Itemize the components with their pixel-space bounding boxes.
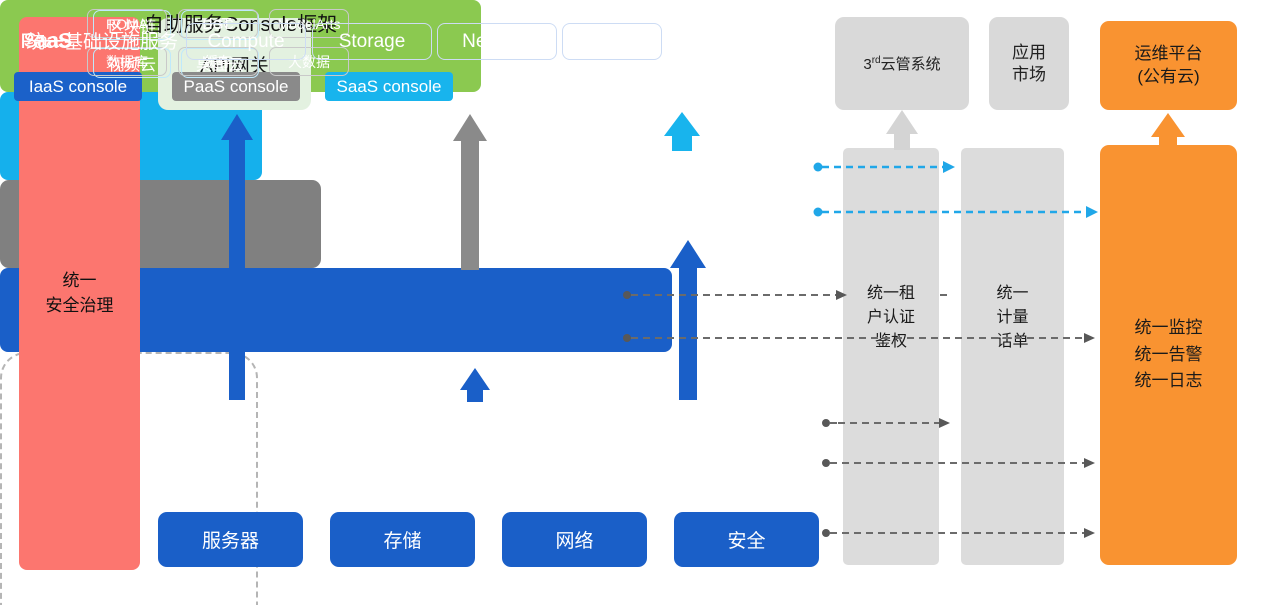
auth-line3: 鉴权 — [843, 330, 939, 354]
third-party-cloud-label: 3rd云管系统 — [863, 53, 940, 74]
infra-chip-storage[interactable]: Storage — [312, 23, 432, 60]
shared-service-column-metering — [961, 148, 1064, 565]
hardware-security[interactable]: 安全 — [674, 512, 819, 567]
infra-chip-cce[interactable]: CCE — [562, 23, 662, 60]
shared-service-column-auth — [843, 148, 939, 565]
arrow-shared-to-third-party-cloud — [886, 110, 918, 150]
shared-service-metering-label: 统一 计量 话单 — [961, 282, 1064, 354]
arrow-infra-to-paas — [460, 368, 490, 402]
arrow-paas-to-console — [453, 114, 487, 270]
hardware-network[interactable]: 网络 — [502, 512, 647, 567]
architecture-diagram: 统一 安全治理 API网关 自助服务Console框架 IaaS console… — [0, 0, 1265, 605]
ops-monitor-line3: 统一日志 — [1135, 368, 1203, 394]
infrastructure-label: 统一基础设施服务 — [12, 27, 192, 54]
ops-platform-line1: 运维平台 — [1135, 43, 1203, 66]
ops-monitor-line2: 统一告警 — [1135, 342, 1203, 368]
app-market-line1: 应用 — [1012, 42, 1046, 63]
third-party-cloud-box: 3rd云管系统 — [835, 17, 969, 110]
infra-chip-compute[interactable]: Compute — [186, 23, 306, 60]
ops-monitor-line1: 统一监控 — [1135, 315, 1203, 341]
metering-line3: 话单 — [961, 330, 1064, 354]
auth-line1: 统一租 — [843, 282, 939, 306]
app-market-box: 应用 市场 — [989, 17, 1069, 110]
ops-monitor-box: 统一监控 统一告警 统一日志 — [1100, 145, 1237, 565]
hardware-storage[interactable]: 存储 — [330, 512, 475, 567]
shared-service-auth-label: 统一租 户认证 鉴权 — [843, 282, 939, 354]
metering-line1: 统一 — [961, 282, 1064, 306]
security-governance-line2: 安全治理 — [46, 294, 114, 319]
ops-platform-line2: (公有云) — [1135, 66, 1203, 89]
security-governance-line1: 统一 — [46, 269, 114, 294]
ops-platform-box: 运维平台 (公有云) — [1100, 21, 1237, 110]
app-market-line2: 市场 — [1012, 64, 1046, 85]
auth-line2: 户认证 — [843, 306, 939, 330]
metering-line2: 计量 — [961, 306, 1064, 330]
arrow-ops-monitor-to-ops-platform — [1151, 113, 1185, 146]
hardware-server[interactable]: 服务器 — [158, 512, 303, 567]
third-party-cloud-superscript: rd — [872, 55, 881, 66]
chip-saas-console[interactable]: SaaS console — [325, 72, 453, 101]
arrow-saas-to-saas-console — [664, 112, 700, 151]
infra-chip-network[interactable]: Network — [437, 23, 557, 60]
arrow-infra-to-saas — [670, 240, 706, 400]
third-party-cloud-rest: 云管系统 — [881, 56, 941, 73]
